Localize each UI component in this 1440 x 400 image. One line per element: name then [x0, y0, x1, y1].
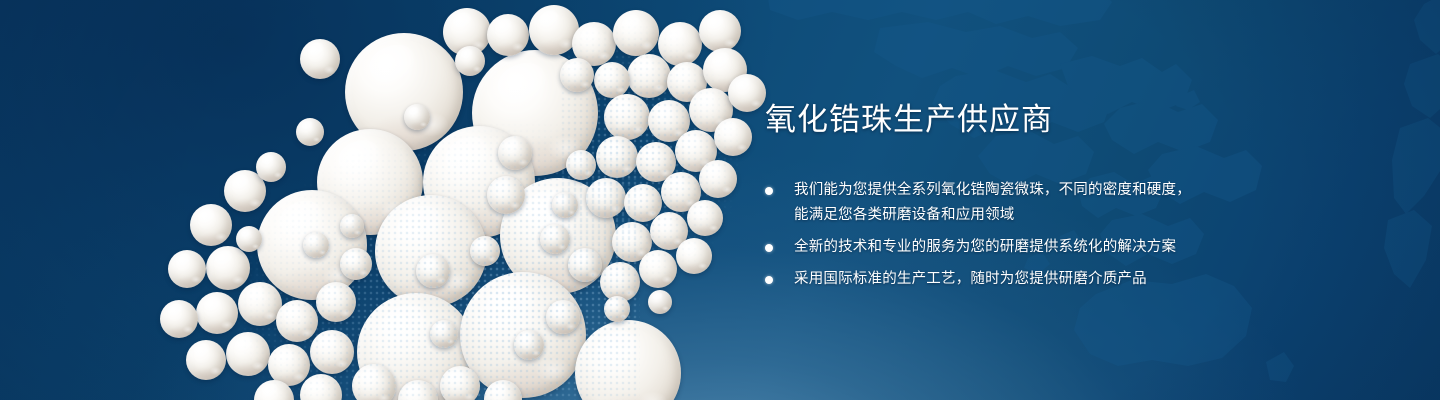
banner-title: 氧化锆珠生产供应商 — [765, 103, 1235, 137]
bullet-item-2: 全新的技术和专业的服务为您的研磨提供系统化的解决方案 — [765, 235, 1235, 260]
bullet-item-3-line-1: 采用国际标准的生产工艺，随时为您提供研磨介质产品 — [794, 267, 1235, 292]
bullet-item-1: 我们能为您提供全系列氧化锆陶瓷微珠，不同的密度和硬度， 能满足您各类研磨设备和应… — [765, 178, 1235, 228]
banner-text-block: 氧化锆珠生产供应商 我们能为您提供全系列氧化锆陶瓷微珠，不同的密度和硬度， 能满… — [765, 103, 1235, 292]
bullet-dot-icon — [765, 187, 773, 195]
bullet-dot-icon — [765, 276, 773, 284]
bullet-item-3: 采用国际标准的生产工艺，随时为您提供研磨介质产品 — [765, 267, 1235, 292]
promo-banner: 氧化锆珠生产供应商 我们能为您提供全系列氧化锆陶瓷微珠，不同的密度和硬度， 能满… — [0, 0, 1440, 400]
banner-bullet-list: 我们能为您提供全系列氧化锆陶瓷微珠，不同的密度和硬度， 能满足您各类研磨设备和应… — [765, 178, 1235, 292]
bullet-dot-icon — [765, 244, 773, 252]
bullet-item-1-line-1: 我们能为您提供全系列氧化锆陶瓷微珠，不同的密度和硬度， — [794, 178, 1235, 203]
bullet-item-2-line-1: 全新的技术和专业的服务为您的研磨提供系统化的解决方案 — [794, 235, 1235, 260]
bullet-item-1-line-2: 能满足您各类研磨设备和应用领域 — [794, 203, 1235, 228]
